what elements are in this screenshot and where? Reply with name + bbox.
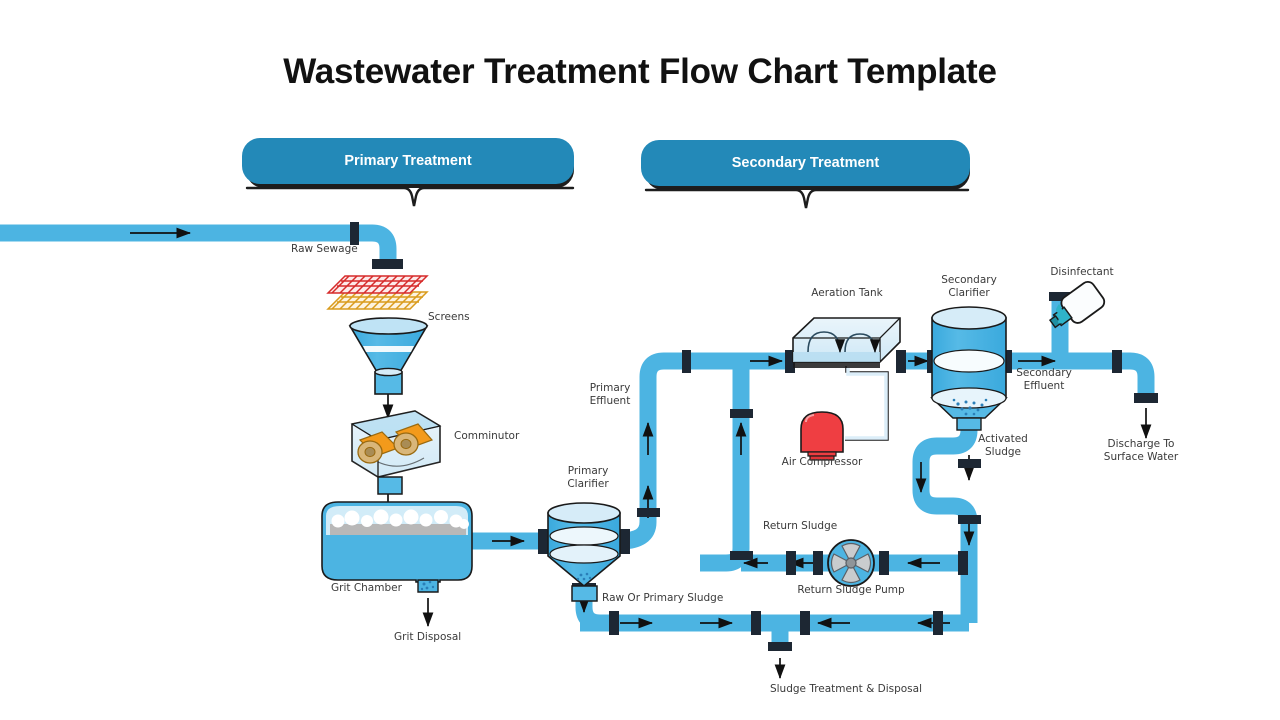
label-comminutor: Comminutor bbox=[454, 430, 519, 443]
label-secondary-effluent: Secondary Effluent bbox=[1004, 367, 1084, 393]
air-compressor-unit bbox=[801, 412, 843, 460]
label-aeration-tank: Aeration Tank bbox=[787, 287, 907, 300]
label-return-sludge-pump: Return Sludge Pump bbox=[781, 584, 921, 597]
flange bbox=[768, 642, 792, 651]
label-air-compressor: Air Compressor bbox=[762, 456, 882, 469]
flange bbox=[372, 259, 403, 269]
label-activated-sludge: Activated Sludge bbox=[963, 433, 1043, 459]
label-raw-or-primary-sludge: Raw Or Primary Sludge bbox=[602, 592, 723, 605]
funnel-separator bbox=[350, 318, 427, 394]
flange bbox=[1134, 393, 1158, 403]
flange bbox=[350, 222, 359, 245]
flange bbox=[538, 529, 548, 554]
label-grit-disposal: Grit Disposal bbox=[394, 631, 461, 644]
flange bbox=[813, 551, 823, 575]
label-return-sludge: Return Sludge bbox=[763, 520, 837, 533]
flange bbox=[609, 611, 619, 635]
flange bbox=[1112, 350, 1122, 373]
label-primary-clarifier: Primary Clarifier bbox=[548, 465, 628, 491]
return-sludge-pump-unit bbox=[828, 540, 874, 586]
flange bbox=[933, 611, 943, 635]
comminutor-box bbox=[352, 411, 440, 494]
flange bbox=[682, 350, 691, 373]
screen-lower bbox=[328, 292, 427, 309]
label-grit-chamber: Grit Chamber bbox=[331, 582, 402, 595]
flange bbox=[637, 508, 660, 517]
process-diagram bbox=[0, 0, 1280, 720]
flange bbox=[786, 551, 796, 575]
flange bbox=[896, 350, 906, 373]
label-discharge: Discharge To Surface Water bbox=[1091, 438, 1191, 464]
label-disinfectant: Disinfectant bbox=[1032, 266, 1132, 279]
label-sludge-treatment: Sludge Treatment & Disposal bbox=[746, 683, 946, 696]
grit-chamber-tank bbox=[322, 502, 472, 592]
screens-grid bbox=[328, 276, 427, 309]
flowchart-canvas: Wastewater Treatment Flow Chart Template… bbox=[0, 0, 1280, 720]
flange bbox=[620, 529, 630, 554]
flange bbox=[751, 611, 761, 635]
flange bbox=[879, 551, 889, 575]
secondary-banner-tail bbox=[646, 190, 968, 208]
label-screens: Screens bbox=[428, 311, 470, 324]
primary-banner-tail bbox=[247, 188, 573, 206]
screen-upper bbox=[328, 276, 427, 293]
flange bbox=[958, 551, 968, 575]
flange bbox=[958, 515, 981, 524]
flange bbox=[730, 409, 753, 418]
secondary-clarifier-tank bbox=[932, 307, 1006, 430]
label-raw-sewage: Raw Sewage bbox=[291, 243, 358, 256]
flange bbox=[800, 611, 810, 635]
flange bbox=[730, 551, 753, 560]
label-primary-effluent: Primary Effluent bbox=[570, 382, 650, 408]
primary-clarifier-tank bbox=[548, 503, 620, 601]
flange bbox=[958, 459, 981, 468]
pipe-effluent-branch-down bbox=[700, 361, 741, 563]
label-secondary-clarifier: Secondary Clarifier bbox=[924, 274, 1014, 300]
